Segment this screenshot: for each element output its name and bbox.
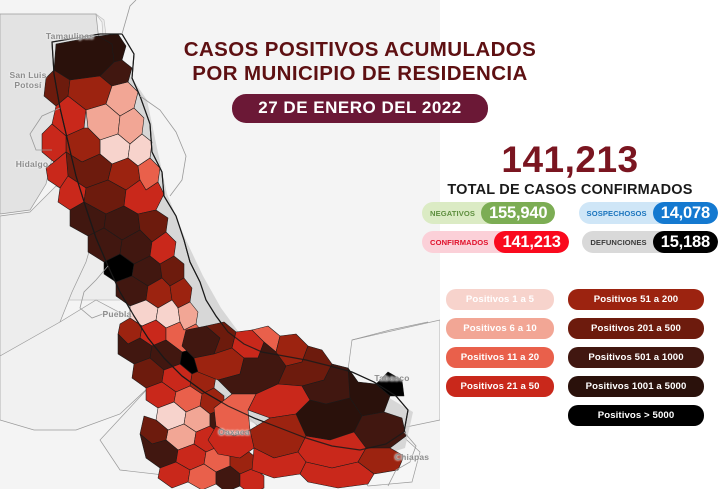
stat-chip-negativos: NEGATIVOS 155,940 bbox=[422, 202, 555, 224]
stat-chip-defunciones-label: DEFUNCIONES bbox=[582, 231, 652, 253]
title-block: CASOS POSITIVOS ACUMULADOS POR MUNICIPIO… bbox=[180, 38, 540, 123]
map-legend: Positivos 1 a 5 Positivos 6 a 10 Positiv… bbox=[446, 289, 706, 426]
legend-item-1001-5000: Positivos 1001 a 5000 bbox=[568, 376, 704, 397]
map-label-san-luis-potosi: San Luis Potosí bbox=[0, 70, 56, 90]
map-label-tamaulipas: Tamaulipas bbox=[40, 31, 100, 41]
map-label-oaxaca: Oaxaca bbox=[208, 427, 260, 437]
infographic-page: Tamaulipas San Luis Potosí Hidalgo Puebl… bbox=[0, 0, 725, 489]
stat-chip-confirmados-value: 141,213 bbox=[494, 231, 568, 253]
stat-chip-sospechosos-label: SOSPECHOSOS bbox=[579, 202, 653, 224]
legend-item-over-5000: Positivos > 5000 bbox=[568, 405, 704, 426]
stat-chips: NEGATIVOS 155,940 SOSPECHOSOS 14,078 CON… bbox=[422, 202, 718, 260]
legend-item-21-50: Positivos 21 a 50 bbox=[446, 376, 554, 397]
stat-chip-sospechosos-value: 14,078 bbox=[653, 202, 718, 224]
legend-item-201-500: Positivos 201 a 500 bbox=[568, 318, 704, 339]
stat-chip-row-2: CONFIRMADOS 141,213 DEFUNCIONES 15,188 bbox=[422, 231, 718, 253]
legend-item-6-10: Positivos 6 a 10 bbox=[446, 318, 554, 339]
stat-chip-row-1: NEGATIVOS 155,940 SOSPECHOSOS 14,078 bbox=[422, 202, 718, 224]
stat-chip-negativos-value: 155,940 bbox=[481, 202, 555, 224]
legend-item-1-5: Positivos 1 a 5 bbox=[446, 289, 554, 310]
stat-chip-defunciones: DEFUNCIONES 15,188 bbox=[582, 231, 718, 253]
legend-item-501-1000: Positivos 501 a 1000 bbox=[568, 347, 704, 368]
stat-chip-defunciones-value: 15,188 bbox=[653, 231, 718, 253]
total-cases-caption: TOTAL DE CASOS CONFIRMADOS bbox=[425, 182, 715, 198]
date-banner: 27 DE ENERO DEL 2022 bbox=[232, 94, 487, 123]
stats-block: 141,213 TOTAL DE CASOS CONFIRMADOS bbox=[425, 140, 715, 198]
title-line-2: POR MUNICIPIO DE RESIDENCIA bbox=[180, 62, 540, 86]
total-cases-number: 141,213 bbox=[425, 140, 715, 180]
map-label-chiapas: Chiapas bbox=[386, 452, 438, 462]
map-label-hidalgo: Hidalgo bbox=[6, 159, 58, 169]
legend-column-right: Positivos 51 a 200 Positivos 201 a 500 P… bbox=[568, 289, 704, 397]
stat-chip-sospechosos: SOSPECHOSOS 14,078 bbox=[579, 202, 718, 224]
legend-item-51-200: Positivos 51 a 200 bbox=[568, 289, 704, 310]
legend-column-left: Positivos 1 a 5 Positivos 6 a 10 Positiv… bbox=[446, 289, 554, 397]
stat-chip-confirmados: CONFIRMADOS 141,213 bbox=[422, 231, 569, 253]
legend-item-11-20: Positivos 11 a 20 bbox=[446, 347, 554, 368]
title-line-1: CASOS POSITIVOS ACUMULADOS bbox=[180, 38, 540, 62]
stat-chip-confirmados-label: CONFIRMADOS bbox=[422, 231, 494, 253]
map-label-tabasco: Tabasco bbox=[366, 373, 418, 383]
map-label-puebla: Puebla bbox=[92, 309, 142, 319]
stat-chip-negativos-label: NEGATIVOS bbox=[422, 202, 481, 224]
